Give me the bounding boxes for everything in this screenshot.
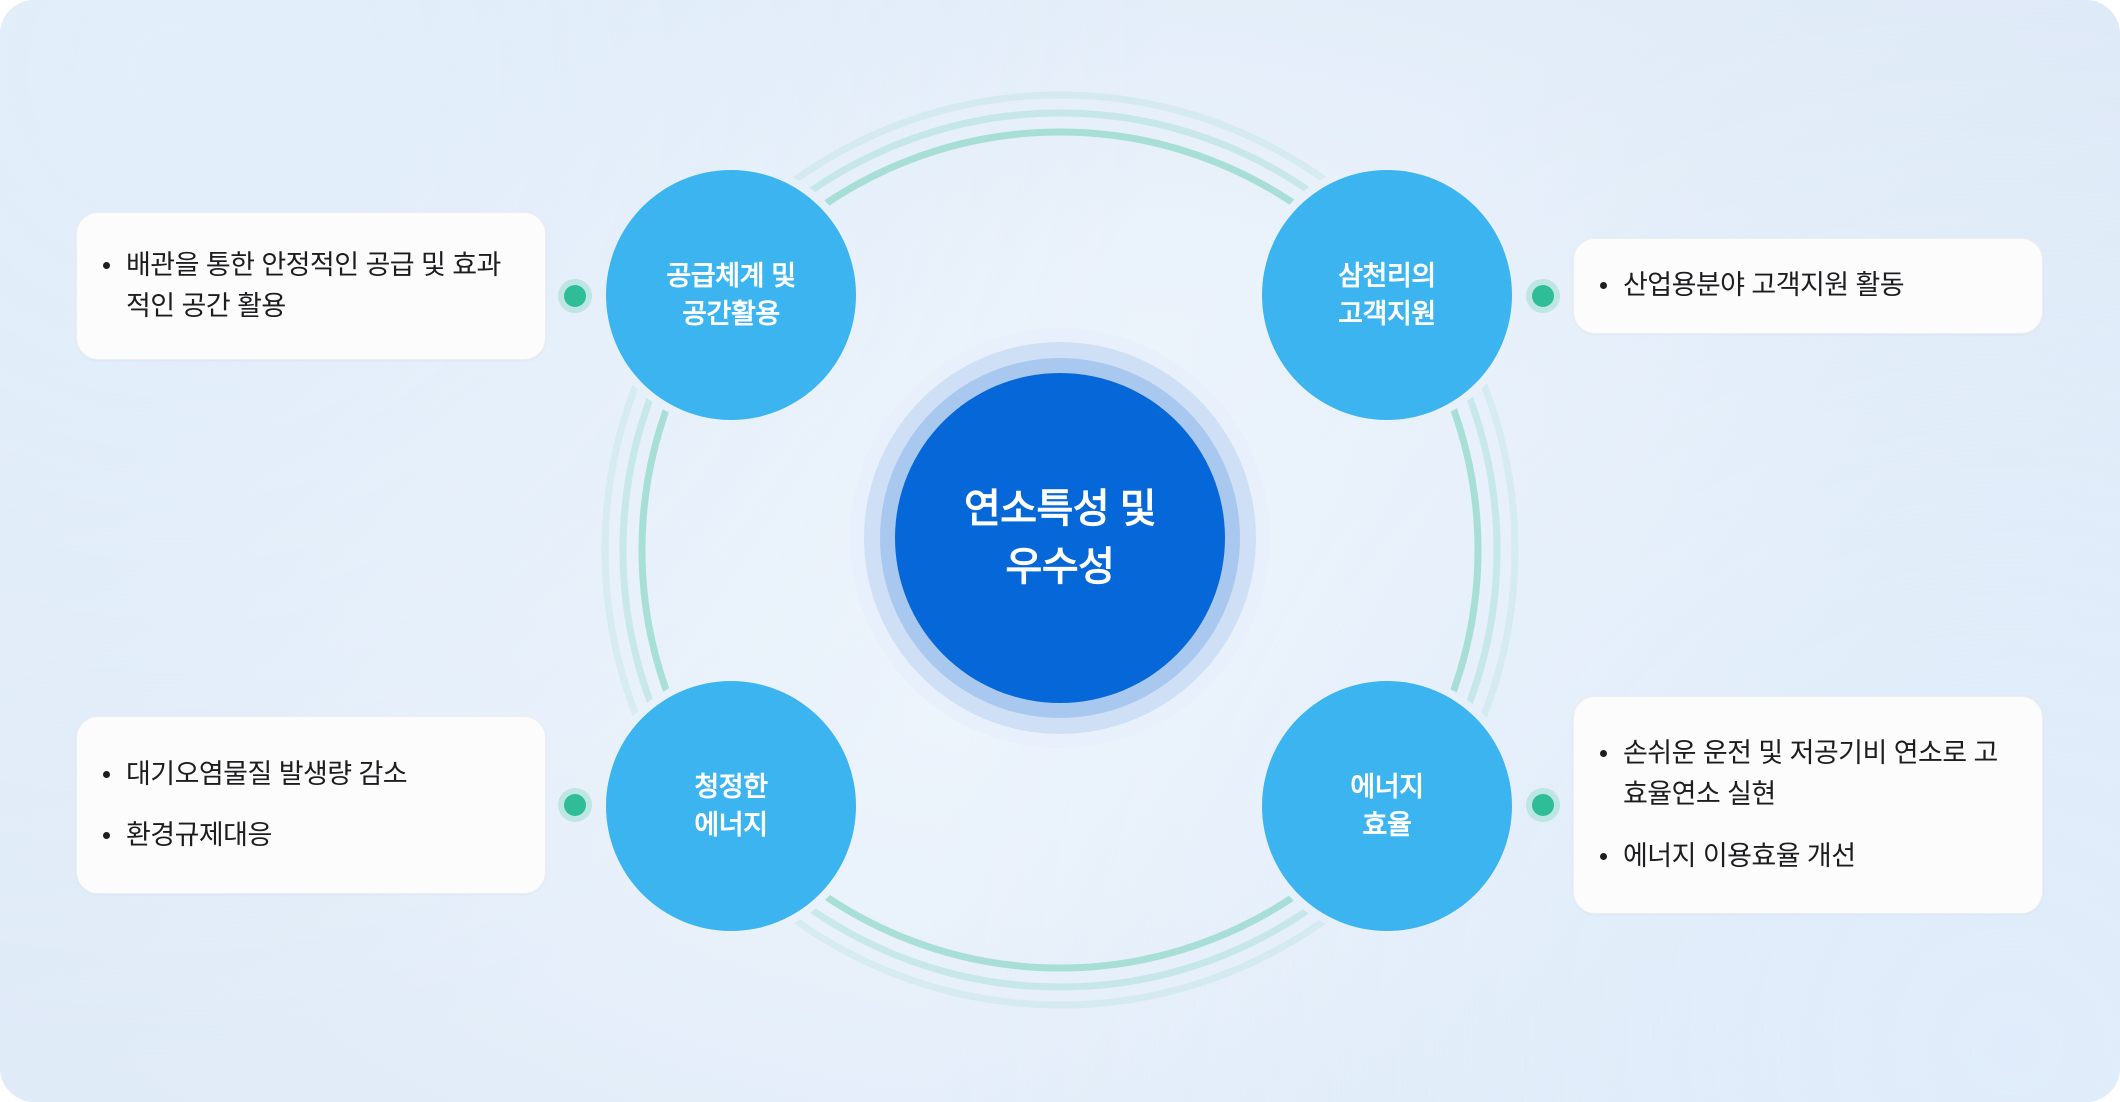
center-node: 연소특성 및 우수성: [850, 328, 1270, 748]
card-supply-system-bullet-1: 배관을 통한 안정적인 공급 및 효과적인 공간 활용: [126, 245, 515, 327]
connector-dot-top-left: [558, 279, 592, 313]
node-customer-support[interactable]: 삼천리의 고객지원: [1262, 170, 1512, 420]
card-clean-energy-bullet-2: 환경규제대응: [126, 815, 272, 856]
card-customer-support: 산업용분야 고객지원 활동: [1573, 238, 2043, 334]
bullet-icon: [1600, 853, 1607, 860]
node-clean-energy-label: 청정한 에너지: [694, 768, 767, 845]
bullet-icon: [103, 262, 110, 269]
card-clean-energy: 대기오염물질 발생량 감소 환경규제대응: [76, 716, 546, 894]
card-energy-efficiency: 손쉬운 운전 및 저공기비 연소로 고효율연소 실현 에너지 이용효율 개선: [1573, 696, 2043, 914]
bullet-icon: [103, 832, 110, 839]
connector-dot-top-right: [1526, 279, 1560, 313]
card-energy-efficiency-bullet-1: 손쉬운 운전 및 저공기비 연소로 고효율연소 실현: [1623, 733, 2012, 815]
list-item: 배관을 통한 안정적인 공급 및 효과적인 공간 활용: [103, 245, 515, 327]
list-item: 산업용분야 고객지원 활동: [1600, 265, 2012, 306]
connector-dot-bottom-left: [558, 788, 592, 822]
list-item: 대기오염물질 발생량 감소: [103, 754, 515, 795]
center-label: 연소특성 및 우수성: [964, 480, 1156, 596]
list-item: 손쉬운 운전 및 저공기비 연소로 고효율연소 실현: [1600, 733, 2012, 815]
bullet-icon: [103, 771, 110, 778]
card-customer-support-bullet-1: 산업용분야 고객지원 활동: [1623, 265, 1904, 306]
bullet-icon: [1600, 282, 1607, 289]
list-item: 에너지 이용효율 개선: [1600, 836, 2012, 877]
node-energy-efficiency-label: 에너지 효율: [1350, 768, 1423, 845]
node-supply-system-label: 공급체계 및 공간활용: [666, 257, 795, 334]
node-supply-system[interactable]: 공급체계 및 공간활용: [606, 170, 856, 420]
node-energy-efficiency[interactable]: 에너지 효율: [1262, 681, 1512, 931]
diagram-canvas: 연소특성 및 우수성 공급체계 및 공간활용 삼천리의 고객지원 청정한 에너지…: [0, 0, 2120, 1102]
connector-dot-bottom-right: [1526, 788, 1560, 822]
card-clean-energy-bullet-1: 대기오염물질 발생량 감소: [126, 754, 407, 795]
card-energy-efficiency-bullet-2: 에너지 이용효율 개선: [1623, 836, 1856, 877]
node-customer-support-label: 삼천리의 고객지원: [1338, 257, 1436, 334]
card-supply-system: 배관을 통한 안정적인 공급 및 효과적인 공간 활용: [76, 212, 546, 360]
center-circle[interactable]: 연소특성 및 우수성: [895, 373, 1225, 703]
node-clean-energy[interactable]: 청정한 에너지: [606, 681, 856, 931]
list-item: 환경규제대응: [103, 815, 515, 856]
bullet-icon: [1600, 750, 1607, 757]
